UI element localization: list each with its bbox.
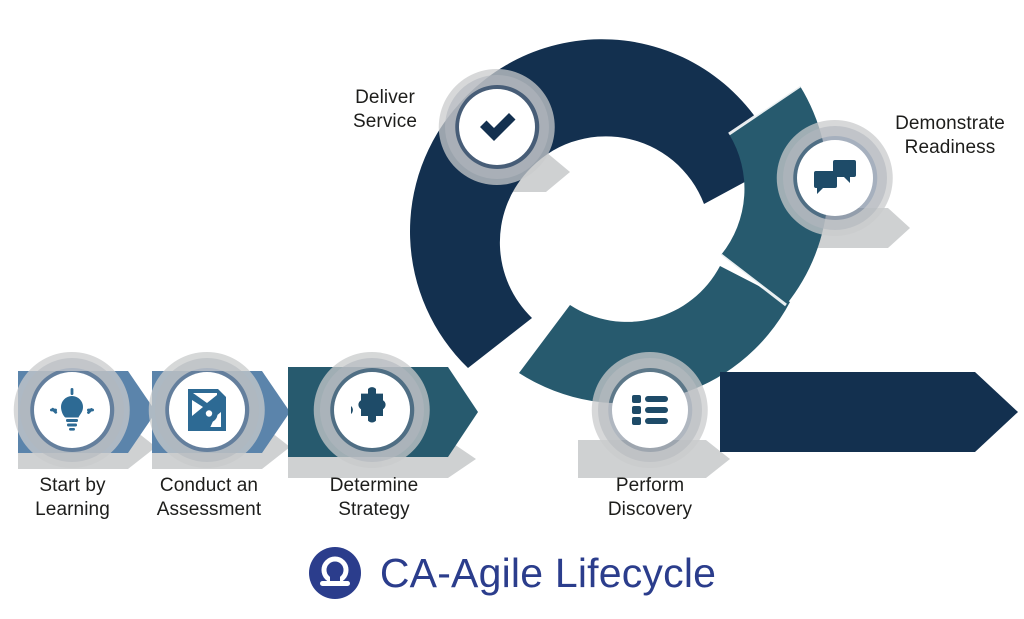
- final-arrow-shape[interactable]: [720, 372, 1018, 452]
- diagram-canvas: Start by Learning Conduct an Assessment …: [0, 0, 1024, 619]
- label-start-by-learning: Start by Learning: [0, 474, 145, 523]
- label-demonstrate-readiness: Demonstrate Readiness: [880, 112, 1020, 161]
- diagram-title-row: CA-Agile Lifecycle: [0, 546, 1024, 600]
- label-perform-discovery: Perform Discovery: [576, 474, 724, 523]
- label-deliver-service: Deliver Service: [330, 86, 440, 135]
- label-determine-strategy: Determine Strategy: [300, 474, 448, 523]
- lifecycle-diagram-svg: [0, 0, 1024, 619]
- list-icon: [632, 395, 668, 425]
- map-pin-icon: [188, 389, 226, 431]
- person-circle-logo-icon: [308, 546, 362, 600]
- label-conduct-an-assessment: Conduct an Assessment: [135, 474, 283, 523]
- page-title: CA-Agile Lifecycle: [380, 553, 716, 594]
